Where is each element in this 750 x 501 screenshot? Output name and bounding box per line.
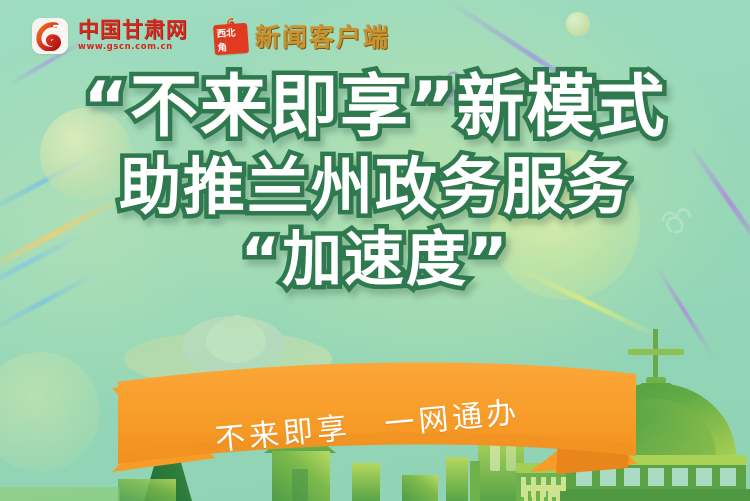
orb-top-right xyxy=(566,12,590,36)
logo2-badge: 西北角 xyxy=(213,23,249,55)
gansu-net-swirl-logo-icon xyxy=(32,18,68,54)
headline-block: “不来即享”新模式 助推兰州政务服务 “加速度” xyxy=(0,74,750,290)
poster-canvas: 中国甘肃网 www.gscn.com.cn 西北角 新闻客户端 xyxy=(0,0,750,501)
headline-line-3: “加速度” xyxy=(0,230,750,290)
logo1-url: www.gscn.com.cn xyxy=(78,43,188,52)
logo2-name: 新闻客户端 xyxy=(255,18,390,54)
gansu-net-wordmark: 中国甘肃网 www.gscn.com.cn xyxy=(78,20,188,52)
headline-line-2: 助推兰州政务服务 xyxy=(0,156,750,218)
xibeijiao-logo: 西北角 新闻客户端 xyxy=(214,18,390,54)
headline-line-1: “不来即享”新模式 xyxy=(0,74,750,142)
xibeijiao-drop-logo-icon: 西北角 xyxy=(214,18,248,54)
logo1-name: 中国甘肃网 xyxy=(78,20,188,41)
header-logos: 中国甘肃网 www.gscn.com.cn 西北角 新闻客户端 xyxy=(32,18,390,54)
